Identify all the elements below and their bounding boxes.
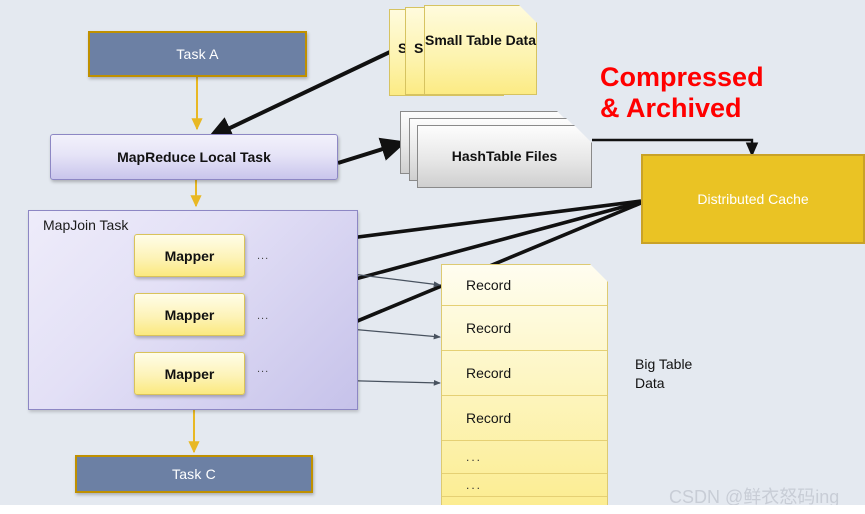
- mapreduce-local-task-box[interactable]: MapReduce Local Task: [50, 134, 338, 180]
- big-table-row-5: ...: [442, 441, 607, 474]
- big-table-row-4: Record: [442, 396, 607, 441]
- big-table-row-3: Record: [442, 351, 607, 396]
- big-table-row-2: Record: [442, 306, 607, 351]
- task-a-label: Task A: [176, 46, 218, 62]
- big-table-row-6: ...: [442, 474, 607, 497]
- mapper-label-3: Mapper: [165, 366, 215, 382]
- mapper-label-2: Mapper: [165, 307, 215, 323]
- big-table-data-doc[interactable]: Record Record Record Record ... ...: [441, 264, 608, 514]
- mapreduce-local-task-label: MapReduce Local Task: [117, 149, 271, 165]
- distributed-cache-label: Distributed Cache: [697, 191, 808, 207]
- mapper-ellipsis-1: ...: [257, 250, 269, 262]
- hashtable-files-label: HashTable Files: [418, 148, 591, 164]
- mapper-box-3[interactable]: Mapper: [134, 352, 245, 395]
- small-table-data-label: Small Table Data: [425, 32, 536, 48]
- big-table-row-1: Record: [442, 265, 607, 306]
- compressed-archived-banner: Compressed & Archived: [600, 62, 764, 124]
- mapper-ellipsis-2: ...: [257, 310, 269, 322]
- hashtable-files-doc-front[interactable]: HashTable Files: [417, 125, 592, 188]
- arrow-mapreduce-to-hashtable: [338, 143, 402, 163]
- mapper-label-1: Mapper: [165, 248, 215, 264]
- diagram-canvas: Task A MapReduce Local Task S Sm Small T…: [0, 0, 865, 514]
- mapper-box-2[interactable]: Mapper: [134, 293, 245, 336]
- big-table-data-side-label: Big Table Data: [635, 355, 692, 393]
- task-a-box[interactable]: Task A: [88, 31, 307, 77]
- bottom-white-strip: [0, 505, 865, 514]
- mapper-box-1[interactable]: Mapper: [134, 234, 245, 277]
- mapjoin-task-label: MapJoin Task: [43, 217, 128, 233]
- small-table-data-doc-front[interactable]: Small Table Data: [424, 5, 537, 95]
- distributed-cache-box[interactable]: Distributed Cache: [641, 154, 865, 244]
- mapper-ellipsis-3: ...: [257, 363, 269, 375]
- task-c-box[interactable]: Task C: [75, 455, 313, 493]
- arrow-hashtable-to-cache: [592, 140, 752, 155]
- task-c-label: Task C: [172, 466, 216, 482]
